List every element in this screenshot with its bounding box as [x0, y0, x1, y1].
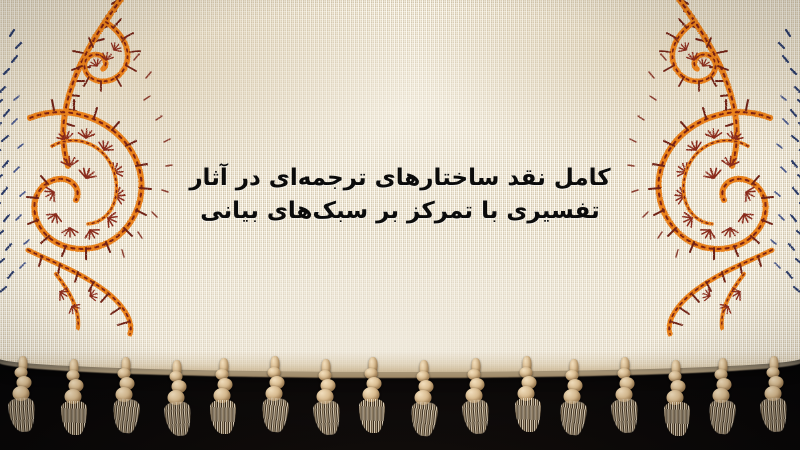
- tassel-threads: [611, 398, 640, 434]
- tassel: [653, 360, 697, 450]
- tassel-threads: [164, 401, 193, 437]
- tassel: [703, 358, 747, 450]
- tassel: [453, 358, 497, 450]
- tassel: [103, 357, 147, 449]
- tassel-threads: [760, 397, 789, 433]
- tassel-threads: [708, 399, 737, 435]
- tassel: [403, 360, 447, 450]
- tassel-threads: [359, 399, 385, 433]
- tassel-threads: [462, 399, 491, 435]
- headline-line-1: کامل نقد ساختارهای ترجمه‌ای در آثار: [150, 162, 650, 195]
- tassel-threads: [410, 401, 439, 437]
- tassel: [53, 359, 97, 450]
- tassel-threads: [515, 398, 541, 432]
- tassel: [553, 359, 597, 450]
- slide-canvas: کامل نقد ساختارهای ترجمه‌ای در آثار تفسی…: [0, 0, 800, 450]
- tassel-fringe-row: [0, 354, 800, 450]
- tassel: [3, 356, 47, 448]
- tassel: [503, 356, 547, 448]
- tassel: [253, 356, 297, 448]
- tassel-threads: [210, 400, 236, 434]
- tassel: [353, 357, 397, 449]
- headline-line-2: تفسیری با تمرکز بر سبک‌های بیانی: [150, 195, 650, 228]
- tassel: [603, 357, 647, 449]
- tassel: [753, 356, 797, 448]
- tassel-threads: [61, 401, 87, 435]
- tassel: [303, 359, 347, 450]
- tassel-threads: [112, 398, 141, 434]
- tassel: [203, 358, 247, 450]
- tassel-threads: [8, 397, 37, 433]
- tassel-threads: [313, 400, 342, 436]
- tassel-threads: [664, 402, 690, 436]
- tassel-threads: [559, 400, 588, 436]
- tassel: [153, 360, 197, 450]
- tassel-threads: [261, 397, 290, 433]
- headline-text: کامل نقد ساختارهای ترجمه‌ای در آثار تفسی…: [150, 162, 650, 228]
